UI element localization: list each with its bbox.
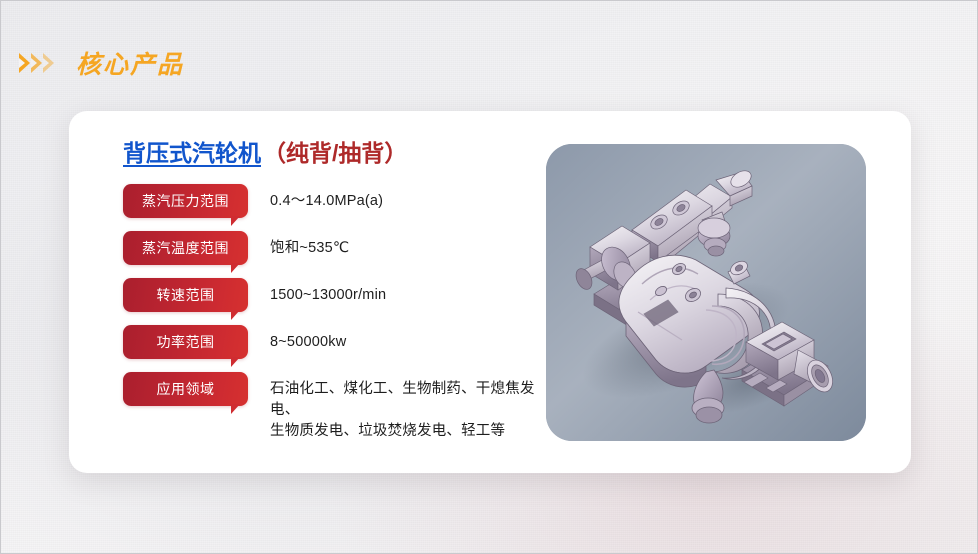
spec-value-pressure: 0.4～14.0MPa(a) xyxy=(270,184,383,212)
spec-label-pressure: 蒸汽压力范围 xyxy=(123,184,248,218)
spec-column: 背压式汽轮机（纯背/抽背） 蒸汽压力范围 0.4～14.0MPa(a) 蒸汽温度… xyxy=(123,141,543,453)
spec-label-speed: 转速范围 xyxy=(123,278,248,312)
chevron-right-icon xyxy=(31,53,42,73)
spec-row: 蒸汽温度范围 饱和~535℃ xyxy=(123,231,543,267)
spec-row: 功率范围 8~50000kw xyxy=(123,325,543,361)
slide-root: 核心产品 背压式汽轮机（纯背/抽背） 蒸汽压力范围 0.4～14.0MPa(a)… xyxy=(0,0,978,554)
product-card: 背压式汽轮机（纯背/抽背） 蒸汽压力范围 0.4～14.0MPa(a) 蒸汽温度… xyxy=(69,111,911,473)
back-pressure-steam-turbine-render xyxy=(546,144,866,441)
product-image-panel xyxy=(546,144,866,441)
spec-row: 应用领域 石油化工、煤化工、生物制药、干熄焦发电、 生物质发电、垃圾焚烧发电、轻… xyxy=(123,372,543,442)
spec-value-temperature: 饱和~535℃ xyxy=(270,231,349,259)
spec-label-temperature: 蒸汽温度范围 xyxy=(123,231,248,265)
chevron-right-icon xyxy=(19,53,30,73)
spec-label-application: 应用领域 xyxy=(123,372,248,406)
spec-value-speed: 1500~13000r/min xyxy=(270,278,386,306)
spec-row: 蒸汽压力范围 0.4～14.0MPa(a) xyxy=(123,184,543,220)
section-header: 核心产品 xyxy=(19,45,184,81)
spec-value-power: 8~50000kw xyxy=(270,325,346,353)
product-title-main: 背压式汽轮机 xyxy=(123,140,261,166)
section-title: 核心产品 xyxy=(76,45,184,81)
spec-row: 转速范围 1500~13000r/min xyxy=(123,278,543,314)
product-title: 背压式汽轮机（纯背/抽背） xyxy=(123,141,543,166)
spec-label-power: 功率范围 xyxy=(123,325,248,359)
chevron-group xyxy=(19,53,54,73)
spec-value-application: 石油化工、煤化工、生物制药、干熄焦发电、 生物质发电、垃圾焚烧发电、轻工等 xyxy=(270,372,543,442)
product-title-sub: （纯背/抽背） xyxy=(263,140,407,166)
chevron-right-icon xyxy=(43,53,54,73)
